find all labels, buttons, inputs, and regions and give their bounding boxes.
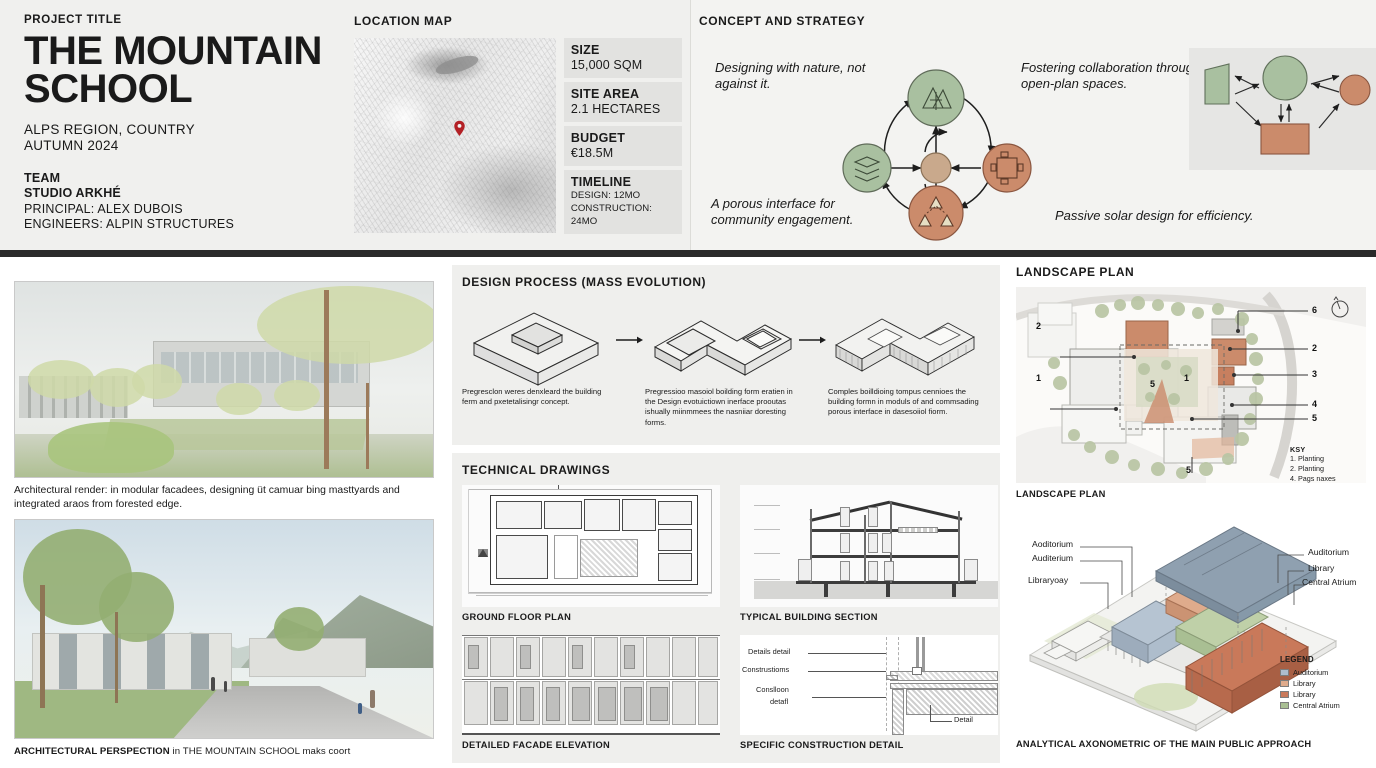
team-label: TEAM: [24, 171, 350, 187]
axo-label-right-3: Central Atrium: [1302, 577, 1356, 587]
detail-label-1: Details detail: [748, 647, 790, 656]
render1-canopy-b: [28, 360, 95, 399]
render2-tree-b: [99, 572, 174, 642]
fact-timeline-construction: CONSTRUCTION: 24MO: [571, 203, 675, 228]
process-caption-3: Comples boilldioing tompus cennioes the …: [828, 387, 981, 428]
construction-detail-cell[interactable]: Details detail Construstioms Conslloon d…: [740, 635, 1006, 767]
concept-quote-4: Passive solar design for efficiency.: [1055, 208, 1305, 224]
location-map-block: LOCATION MAP SIZE 15,000 SQM: [350, 0, 690, 250]
project-title-line2: SCHOOL: [24, 70, 350, 108]
legend-swatch-library-dark: [1280, 691, 1289, 698]
concept-quote-2: Fostering collaboration through open-pla…: [1021, 60, 1206, 93]
axo-label-left-2: Auditerium: [1032, 553, 1073, 563]
landscape-key-item-2: 2. Planting: [1290, 464, 1364, 474]
team-block: TEAM STUDIO ARKHÉ PRINCIPAL: ALEX DUBOIS…: [24, 171, 350, 233]
location-map-image[interactable]: [354, 38, 556, 233]
render1-tree-trunk-2: [366, 383, 369, 469]
render2-tree-c: [274, 607, 324, 651]
design-process-heading: DESIGN PROCESS (MASS EVOLUTION): [462, 275, 1000, 289]
right-column: LANDSCAPE PLAN: [1010, 257, 1376, 768]
landscape-callout-left-1: 1: [1036, 373, 1041, 383]
axo-label-left-1: Aoditorium: [1032, 539, 1073, 549]
detail-label-2: Construstioms: [742, 665, 789, 674]
concept-cycle-diagram: [829, 40, 1044, 240]
table-node: [983, 144, 1031, 192]
concept-strategy-block: CONCEPT AND STRATEGY Designing with natu…: [690, 0, 1376, 250]
process-caption-2: Pregressioo masoiol boilding form eratie…: [645, 387, 798, 428]
legend-label-2: Library: [1293, 678, 1316, 689]
project-facts-list: SIZE 15,000 SQM SITE AREA 2.1 HECTARES B…: [564, 38, 682, 234]
legend-item: Library: [1280, 689, 1364, 700]
process-step-2: [645, 299, 798, 381]
fact-site-area-key: SITE AREA: [571, 87, 675, 101]
fact-timeline: TIMELINE DESIGN: 12MO CONSTRUCTION: 24MO: [564, 170, 682, 234]
axo-label-right-1: Auditorium: [1308, 547, 1349, 557]
project-location: ALPS REGION, COUNTRY: [24, 122, 350, 138]
aux-circle-green: [1263, 56, 1307, 100]
landscape-plan-caption: LANDSCAPE PLAN: [1016, 489, 1366, 499]
fact-budget-key: BUDGET: [571, 131, 675, 145]
landscape-plan-drawing[interactable]: 2 1 6 2 3 4 5 5 1 5 KSY 1. Planting 2. P…: [1016, 287, 1366, 483]
axonometric-caption: ANALYTICAL AXONOMETRIC OF THE MAIN PUBLI…: [1016, 739, 1366, 749]
render1-shrub: [48, 422, 173, 473]
ground-floor-plan-label: GROUND FLOOR PLAN: [462, 612, 728, 622]
construction-detail-drawing: Details detail Construstioms Conslloon d…: [740, 635, 998, 735]
render-courtyard-image[interactable]: [14, 281, 434, 478]
project-title-eyebrow: PROJECT TITLE: [24, 14, 350, 26]
technical-drawings-panel: TECHNICAL DRAWINGS: [452, 453, 1000, 763]
render2-trunk-a: [115, 612, 118, 704]
project-title-block: PROJECT TITLE THE MOUNTAIN SCHOOL ALPS R…: [0, 0, 350, 250]
fact-size: SIZE 15,000 SQM: [564, 38, 682, 78]
render1-caption: Architectural render: in modular facadee…: [14, 484, 432, 511]
fact-size-value: 15,000 SQM: [571, 58, 675, 72]
project-title-line1: THE MOUNTAIN: [24, 32, 350, 70]
landscape-key-heading: KSY: [1290, 445, 1364, 454]
legend-swatch-library-light: [1280, 680, 1289, 687]
team-studio: STUDIO ARKHÉ: [24, 186, 350, 202]
render1-canopy-a: [257, 286, 434, 364]
render1-canopy-d: [132, 364, 182, 399]
landscape-callout-inner-1: 1: [1184, 373, 1189, 383]
render1-tree-trunk: [324, 290, 329, 469]
facade-elevation-label: DETAILED FACADE ELEVATION: [462, 740, 728, 750]
legend-label-1: Auditorium: [1293, 667, 1328, 678]
render2-figure-b: [224, 681, 227, 692]
landscape-callout-right-6: 6: [1312, 305, 1317, 315]
landscape-key-box: KSY 1. Planting 2. Planting 4. Pags naxe…: [1290, 445, 1364, 483]
legend-label-3: Library: [1293, 689, 1316, 700]
render2-figure-a: [211, 677, 215, 691]
landscape-key-item-1: 1. Planting: [1290, 454, 1364, 464]
render2-caption: ARCHITECTURAL PERSPECTION in THE MOUNTAI…: [14, 746, 434, 757]
fact-timeline-key: TIMELINE: [571, 175, 675, 189]
render1-canopy-e: [216, 383, 262, 414]
landscape-callout-inner-5b: 5: [1186, 465, 1191, 475]
legend-swatch-atrium: [1280, 702, 1289, 709]
landscape-callout-right-3: 3: [1312, 369, 1317, 379]
landscape-callout-inner-5: 5: [1150, 379, 1155, 389]
render2-trunk-b: [40, 585, 45, 707]
technical-drawings-heading: TECHNICAL DRAWINGS: [462, 463, 1000, 477]
detail-label-4: detafl: [770, 697, 788, 706]
fact-budget: BUDGET €18.5M: [564, 126, 682, 166]
community-node: [909, 186, 963, 240]
building-section-label: TYPICAL BUILDING SECTION: [740, 612, 1006, 622]
legend-item: Auditorium: [1280, 667, 1364, 678]
building-section-cell[interactable]: TYPICAL BUILDING SECTION: [740, 485, 1006, 635]
facade-elevation-drawing: [462, 635, 720, 735]
render2-figure-c: [370, 690, 375, 708]
process-massing-3: [828, 299, 981, 381]
middle-column: DESIGN PROCESS (MASS EVOLUTION): [444, 257, 1010, 768]
location-map-heading: LOCATION MAP: [354, 14, 682, 28]
concept-relationship-diagram: [1189, 48, 1376, 170]
render-approach-image[interactable]: [14, 519, 434, 739]
axonometric-legend: LEGEND Auditorium Library Library Centra…: [1280, 655, 1364, 711]
section-divider: [0, 250, 1376, 257]
project-season: AUTUMN 2024: [24, 138, 350, 154]
render2-building-wing: [32, 633, 233, 690]
terrain-highlight: [374, 89, 435, 148]
process-step-1: [462, 299, 615, 381]
detail-label-3: Conslloon: [756, 685, 789, 694]
center-node: [921, 153, 951, 183]
landscape-callout-left-2: 2: [1036, 321, 1041, 331]
process-arrow-2: [798, 299, 828, 381]
map-pin-icon: [451, 120, 468, 137]
detail-label-5: Detail: [954, 715, 973, 724]
process-step-3: [828, 299, 981, 381]
facade-elevation-cell[interactable]: DETAILED FACADE ELEVATION: [462, 635, 728, 767]
landscape-key-item-3: 4. Pags naxes: [1290, 474, 1364, 483]
concept-heading: CONCEPT AND STRATEGY: [699, 14, 1376, 28]
render1-canopy-f: [274, 380, 320, 411]
legend-swatch-auditorium: [1280, 669, 1289, 676]
fact-size-key: SIZE: [571, 43, 675, 57]
landscape-plan-heading: LANDSCAPE PLAN: [1016, 265, 1366, 279]
landscape-callout-right-5: 5: [1312, 413, 1317, 423]
aux-circle-terracotta: [1340, 75, 1370, 105]
legend-heading: LEGEND: [1280, 655, 1364, 664]
legend-item: Library: [1280, 678, 1364, 689]
fact-site-area: SITE AREA 2.1 HECTARES: [564, 82, 682, 122]
process-caption-1: Pregresclon weres denxleard the building…: [462, 387, 615, 428]
layers-node: [843, 144, 891, 192]
fact-site-area-value: 2.1 HECTARES: [571, 102, 675, 116]
construction-detail-label: SPECIFIC CONSTRUCTION DETAIL: [740, 740, 1006, 750]
ground-floor-plan-drawing: [462, 485, 720, 607]
process-arrow-1: [615, 299, 645, 381]
landscape-callout-right-2: 2: [1312, 343, 1317, 353]
fact-timeline-design: DESIGN: 12MO: [571, 190, 675, 202]
ground-floor-plan-cell[interactable]: GROUND FLOOR PLAN: [462, 485, 728, 635]
project-location-block: ALPS REGION, COUNTRY AUTUMN 2024: [24, 122, 350, 155]
render2-caption-bold: ARCHITECTURAL PERSPECTION: [14, 746, 170, 757]
design-process-panel: DESIGN PROCESS (MASS EVOLUTION): [452, 265, 1000, 445]
page-title: THE MOUNTAIN SCHOOL: [24, 32, 350, 108]
legend-item: Central Atrium: [1280, 700, 1364, 711]
team-engineers: ENGINEERS: ALPIN STRUCTURES: [24, 217, 350, 233]
render2-caption-rest: in THE MOUNTAIN SCHOOL maks coort: [170, 746, 351, 757]
landscape-callout-right-4: 4: [1312, 399, 1317, 409]
legend-label-4: Central Atrium: [1293, 700, 1340, 711]
building-section-drawing: [740, 485, 998, 607]
process-massing-2: [645, 299, 798, 381]
axonometric-drawing[interactable]: Aoditorium Auditerium Libraryoay Auditor…: [1016, 509, 1368, 737]
fact-budget-value: €18.5M: [571, 146, 675, 160]
aux-rect-terracotta: [1261, 124, 1309, 154]
renders-column: Architectural render: in modular facadee…: [0, 257, 444, 768]
render2-figure-d: [358, 703, 362, 714]
aux-trapezoid-shape: [1205, 64, 1229, 104]
team-principal: PRINCIPAL: ALEX DUBOIS: [24, 202, 350, 218]
axo-label-left-3: Libraryoay: [1028, 575, 1068, 585]
header-band: PROJECT TITLE THE MOUNTAIN SCHOOL ALPS R…: [0, 0, 1376, 250]
process-massing-1: [462, 299, 615, 381]
axo-label-right-2: Library: [1308, 563, 1334, 573]
